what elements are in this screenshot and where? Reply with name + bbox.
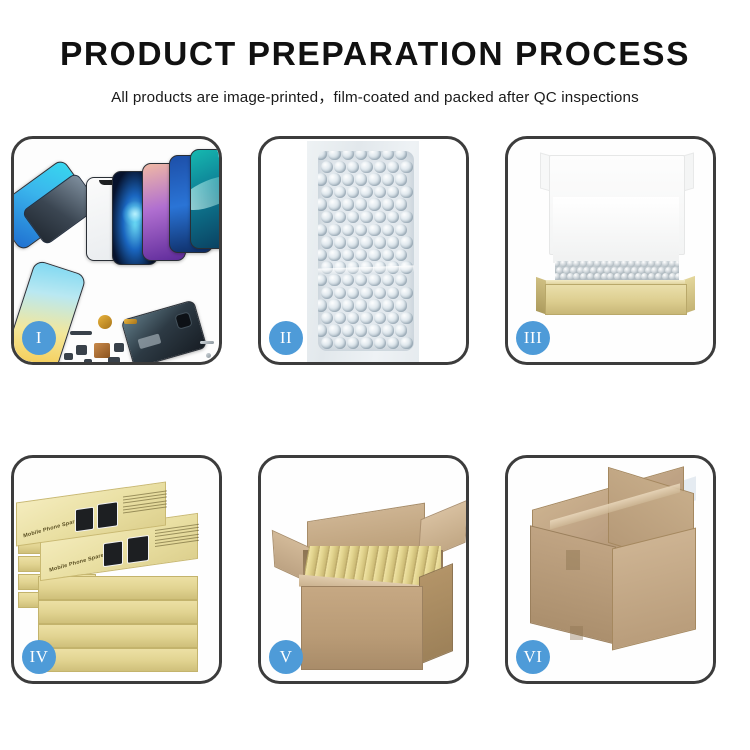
bubble bbox=[318, 198, 327, 210]
product-preparation-infographic: PRODUCT PREPARATION PROCESS All products… bbox=[0, 0, 750, 750]
process-step-3: III bbox=[505, 136, 716, 365]
bubble bbox=[360, 186, 372, 198]
bubble bbox=[342, 198, 354, 210]
bubble-wrap-wrapped-item bbox=[318, 151, 414, 351]
stacked-box-f-4 bbox=[38, 648, 198, 672]
bubble bbox=[321, 186, 333, 198]
bubble bbox=[400, 186, 412, 198]
camera-module bbox=[174, 311, 193, 330]
bubble bbox=[347, 337, 359, 349]
bubble bbox=[382, 224, 394, 236]
box-spec-lines-1 bbox=[123, 490, 167, 518]
bubble bbox=[334, 186, 346, 198]
bubble bbox=[328, 249, 340, 261]
bubble bbox=[360, 236, 372, 248]
spare-part-screwdriver bbox=[200, 341, 214, 344]
bubble bbox=[334, 211, 346, 223]
bubble bbox=[400, 161, 412, 173]
spare-part-sim-tray bbox=[84, 359, 92, 362]
spare-part-speaker bbox=[108, 357, 120, 362]
sealed-carton-right-face bbox=[612, 528, 696, 651]
bubble bbox=[374, 287, 386, 299]
bubble bbox=[368, 224, 380, 236]
bubble bbox=[321, 211, 333, 223]
bubble bbox=[387, 337, 399, 349]
bubble bbox=[374, 161, 386, 173]
board-chip bbox=[137, 333, 161, 349]
bubble bbox=[368, 324, 380, 336]
bubble bbox=[355, 299, 367, 311]
spare-part-screw bbox=[206, 353, 211, 358]
bubble bbox=[374, 236, 386, 248]
bubble bbox=[387, 186, 399, 198]
bubble bbox=[382, 274, 394, 286]
bubble bbox=[355, 324, 367, 336]
stacked-box-f-2 bbox=[38, 600, 198, 624]
process-step-4: Mobile Phone Spare Parts Mobile Phone Sp… bbox=[11, 455, 222, 684]
bubble bbox=[321, 287, 333, 299]
bubble bbox=[355, 151, 367, 160]
bubble bbox=[395, 299, 407, 311]
bubble bbox=[368, 249, 380, 261]
bubble bbox=[334, 312, 346, 324]
carton-front-face bbox=[301, 586, 423, 670]
bubble bbox=[318, 324, 327, 336]
bubble bbox=[328, 173, 340, 185]
bubble bbox=[321, 161, 333, 173]
spare-part-screw-2 bbox=[213, 355, 217, 359]
bubble bbox=[342, 274, 354, 286]
bubble bbox=[387, 211, 399, 223]
bubble bbox=[360, 312, 372, 324]
spare-part-button bbox=[76, 345, 87, 355]
bubble bbox=[400, 337, 412, 349]
bubble bbox=[321, 236, 333, 248]
bubble bbox=[382, 151, 394, 160]
phone-screen-green bbox=[190, 149, 219, 249]
mailer-foam-sheet bbox=[553, 197, 679, 263]
bubble bbox=[387, 236, 399, 248]
bubble bbox=[374, 211, 386, 223]
process-step-2: II bbox=[258, 136, 469, 365]
bubble bbox=[382, 324, 394, 336]
bubble bbox=[328, 324, 340, 336]
carton-side-face bbox=[419, 563, 453, 665]
bubble bbox=[342, 249, 354, 261]
bubble bbox=[334, 236, 346, 248]
box-art-screen-2b bbox=[127, 535, 149, 564]
box-art-screen-2a bbox=[103, 540, 123, 567]
bubble bbox=[355, 224, 367, 236]
mailer-box-front bbox=[545, 284, 687, 315]
bubble bbox=[334, 161, 346, 173]
bubble bbox=[334, 287, 346, 299]
step-badge-5: V bbox=[269, 640, 303, 674]
bubble bbox=[395, 274, 407, 286]
stacked-box-f-1 bbox=[38, 576, 198, 600]
spare-part-vibration-motor bbox=[98, 315, 112, 329]
bubble bbox=[395, 324, 407, 336]
bubble bbox=[360, 161, 372, 173]
bubble bbox=[374, 186, 386, 198]
bubble bbox=[328, 274, 340, 286]
bubble bbox=[382, 249, 394, 261]
bubble bbox=[368, 151, 380, 160]
spare-part-bracket bbox=[114, 343, 124, 352]
bubble bbox=[347, 287, 359, 299]
spare-part-chip-grid bbox=[94, 343, 110, 358]
stacked-box-f-3 bbox=[38, 624, 198, 648]
process-step-5: V bbox=[258, 455, 469, 684]
bubble bbox=[400, 211, 412, 223]
bubble bbox=[355, 274, 367, 286]
bubble bbox=[395, 224, 407, 236]
bubble bbox=[342, 173, 354, 185]
bubble bbox=[382, 173, 394, 185]
bubble bbox=[355, 249, 367, 261]
page-subtitle: All products are image-printed，film-coat… bbox=[0, 74, 750, 107]
bubble bbox=[360, 337, 372, 349]
bubble bbox=[342, 324, 354, 336]
bubble bbox=[342, 299, 354, 311]
bubble bbox=[382, 299, 394, 311]
step-badge-3: III bbox=[516, 321, 550, 355]
bubble bbox=[387, 161, 399, 173]
carton-seam-bottom bbox=[570, 626, 583, 640]
process-row-2: Mobile Phone Spare Parts Mobile Phone Sp… bbox=[11, 455, 739, 684]
step-badge-6: VI bbox=[516, 640, 550, 674]
page-title: PRODUCT PREPARATION PROCESS bbox=[0, 0, 750, 74]
step-badge-4: IV bbox=[22, 640, 56, 674]
step-badge-2: II bbox=[269, 321, 303, 355]
process-row-1: I II bbox=[11, 136, 739, 365]
bubble bbox=[347, 186, 359, 198]
bubble bbox=[355, 173, 367, 185]
bubble bbox=[347, 161, 359, 173]
bubble bbox=[395, 249, 407, 261]
bubble bbox=[347, 312, 359, 324]
bubble bbox=[400, 236, 412, 248]
bubble bbox=[395, 173, 407, 185]
bubble bbox=[355, 198, 367, 210]
bubble bbox=[400, 312, 412, 324]
bubble bbox=[328, 151, 340, 160]
process-step-1: I bbox=[11, 136, 222, 365]
bubble bbox=[360, 211, 372, 223]
bubble bbox=[318, 299, 327, 311]
bubble bbox=[342, 151, 354, 160]
bubble bbox=[328, 299, 340, 311]
bubble bbox=[387, 287, 399, 299]
bubble bbox=[400, 287, 412, 299]
bubble bbox=[347, 211, 359, 223]
spare-part-clip bbox=[64, 353, 73, 360]
bubble bbox=[318, 173, 327, 185]
bubble bbox=[328, 198, 340, 210]
bubble bbox=[374, 312, 386, 324]
bubble bbox=[395, 198, 407, 210]
bubble bbox=[347, 236, 359, 248]
bubble bbox=[318, 224, 327, 236]
bubble bbox=[382, 198, 394, 210]
bubble bbox=[318, 249, 327, 261]
bubble bbox=[374, 337, 386, 349]
bubble bbox=[321, 337, 333, 349]
bubble bbox=[368, 198, 380, 210]
bubble bbox=[318, 274, 327, 286]
bubble bbox=[387, 312, 399, 324]
spare-part-connector bbox=[124, 319, 137, 324]
header: PRODUCT PREPARATION PROCESS All products… bbox=[0, 0, 750, 107]
box-art-screen-1a bbox=[75, 507, 94, 533]
box-art-screen-1b bbox=[97, 501, 118, 529]
box-spec-lines-2 bbox=[155, 524, 199, 552]
bubble bbox=[368, 173, 380, 185]
bubble bbox=[334, 337, 346, 349]
step-badge-1: I bbox=[22, 321, 56, 355]
screen-swirl bbox=[190, 169, 219, 217]
bubble bbox=[368, 299, 380, 311]
bubble bbox=[395, 151, 407, 160]
bubble bbox=[368, 274, 380, 286]
process-step-6: VI bbox=[505, 455, 716, 684]
bubble bbox=[342, 224, 354, 236]
bubble bbox=[328, 224, 340, 236]
bubble bbox=[321, 312, 333, 324]
bubble bbox=[318, 151, 327, 160]
carton-seam-top bbox=[566, 550, 580, 570]
bubble bbox=[360, 287, 372, 299]
spare-part-flex-strip bbox=[70, 331, 92, 335]
